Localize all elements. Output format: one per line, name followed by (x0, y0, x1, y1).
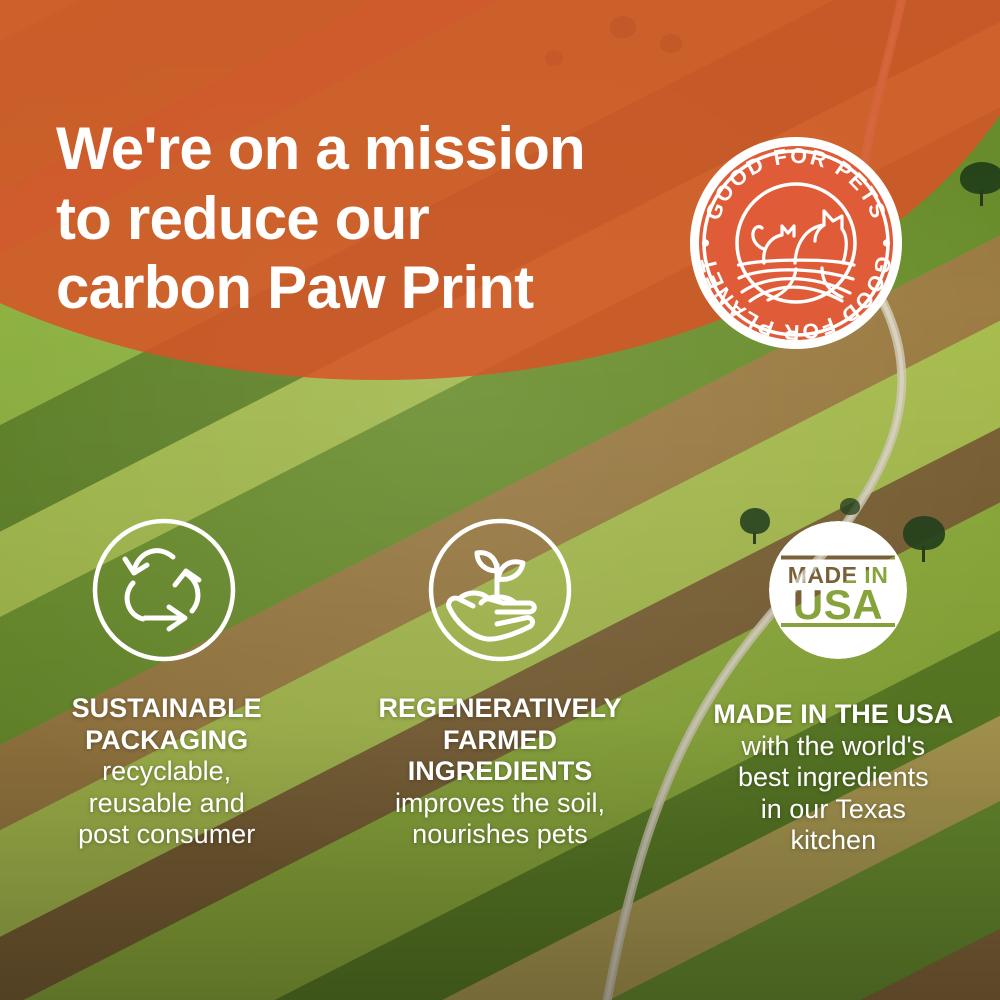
feature-regenerative-ingredients: REGENERATIVELY FARMED INGREDIENTS improv… (333, 515, 666, 857)
hand-holding-seedling-icon (425, 515, 575, 665)
feature-3-sub-line-1: with the world's (713, 731, 953, 763)
feature-2-title-line-2: FARMED (378, 725, 621, 757)
promo-graphic: We're on a mission to reduce our carbon … (0, 0, 1000, 1000)
feature-2-title-line-3: INGREDIENTS (378, 756, 621, 788)
feature-1-title-line-1: SUSTAINABLE (72, 693, 262, 725)
feature-2-subtitle: improves the soil, nourishes pets (378, 788, 621, 851)
feature-3-subtitle: with the world's best ingredients in our… (713, 731, 953, 857)
feature-1-sub-line-2: reusable and (72, 788, 262, 820)
feature-1-text: SUSTAINABLE PACKAGING recyclable, reusab… (72, 693, 262, 851)
feature-made-in-usa: MADE IN USA MADE IN THE USA with the wor… (667, 515, 1000, 857)
feature-2-text: REGENERATIVELY FARMED INGREDIENTS improv… (378, 693, 621, 851)
feature-3-sub-line-4: kitchen (713, 825, 953, 857)
feature-2-sub-line-1: improves the soil, (378, 788, 621, 820)
feature-1-sub-line-1: recyclable, (72, 756, 262, 788)
feature-1-sub-line-3: post consumer (72, 819, 262, 851)
seal-dot-right (883, 239, 890, 246)
seal-dot-left (702, 239, 709, 246)
good-for-pets-planet-seal: GOOD FOR PETS GOOD FOR PLANET (690, 137, 902, 349)
feature-1-subtitle: recyclable, reusable and post consumer (72, 756, 262, 851)
feature-sustainable-packaging: SUSTAINABLE PACKAGING recyclable, reusab… (0, 515, 333, 857)
feature-2-title: REGENERATIVELY FARMED INGREDIENTS (378, 693, 621, 788)
feature-1-title: SUSTAINABLE PACKAGING (72, 693, 262, 756)
feature-3-sub-line-3: in our Texas (713, 794, 953, 826)
recycle-arrows-icon (89, 515, 239, 665)
feature-1-title-line-2: PACKAGING (72, 725, 262, 757)
feature-2-sub-line-2: nourishes pets (378, 819, 621, 851)
feature-3-text: MADE IN THE USA with the world's best in… (713, 699, 953, 857)
headline-line-2: to reduce our (56, 184, 716, 254)
feature-3-title-line-1: MADE IN THE USA (713, 699, 953, 731)
feature-row: SUSTAINABLE PACKAGING recyclable, reusab… (0, 515, 1000, 857)
made-in-usa-badge-icon: MADE IN USA (763, 515, 913, 665)
feature-2-title-line-1: REGENERATIVELY (378, 693, 621, 725)
headline-line-1: We're on a mission (56, 114, 716, 184)
page-title: We're on a mission to reduce our carbon … (56, 114, 716, 323)
headline-line-3: carbon Paw Print (56, 253, 716, 323)
feature-3-sub-line-2: best ingredients (713, 762, 953, 794)
feature-3-title: MADE IN THE USA (713, 699, 953, 731)
